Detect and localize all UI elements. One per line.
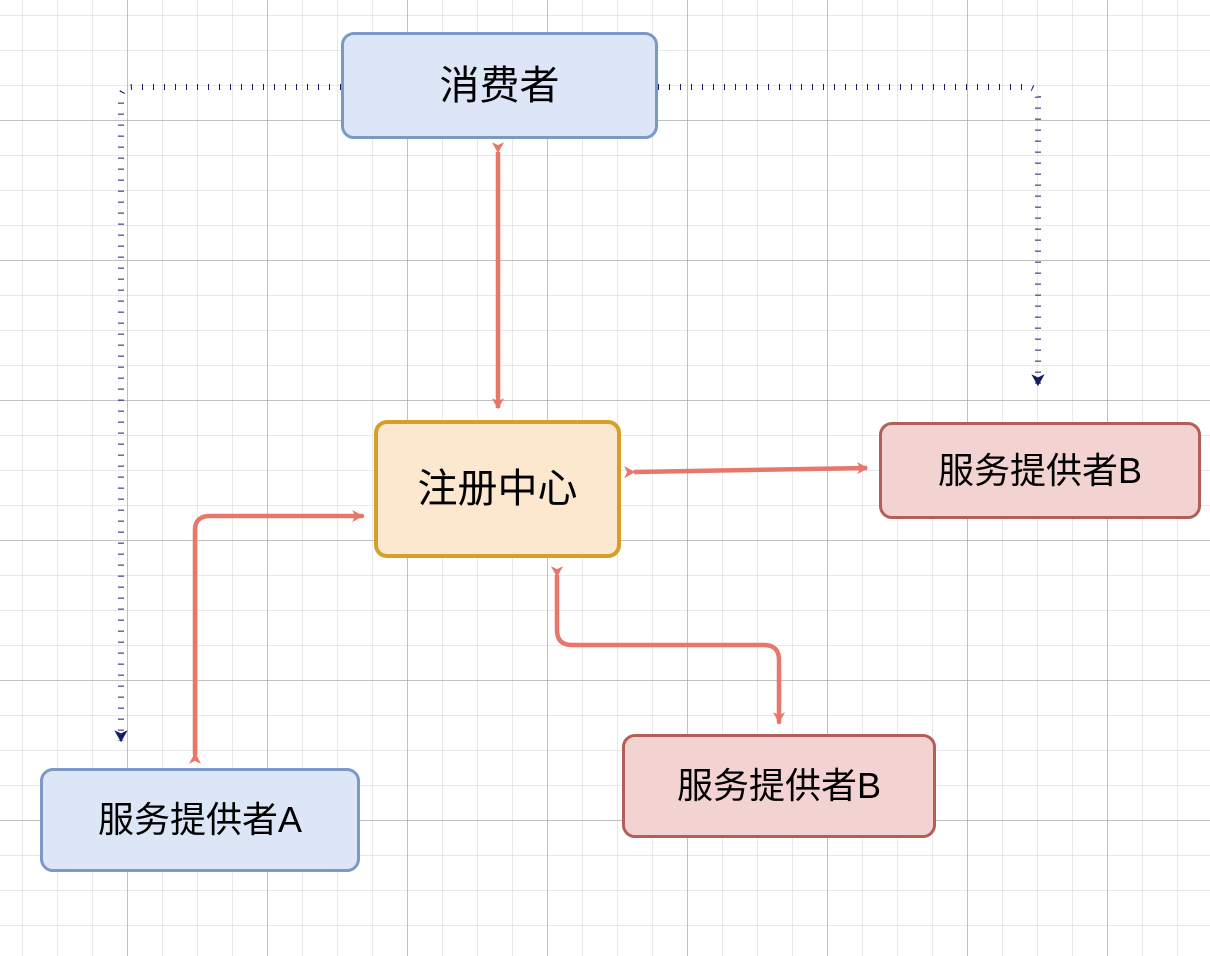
node-provider-b-bottom[interactable]: 服务提供者B	[622, 734, 936, 838]
edge-consumer-to-provider-b-right	[658, 87, 1038, 385]
diagram-canvas: 消费者 注册中心 服务提供者B 服务提供者B 服务提供者A	[0, 0, 1210, 956]
node-registry-label: 注册中心	[418, 467, 578, 511]
edge-registry-provider-b-bottom	[557, 576, 779, 722]
node-provider-b-bottom-label: 服务提供者B	[677, 766, 881, 806]
edge-registry-provider-b-right	[634, 468, 867, 472]
node-consumer-label: 消费者	[440, 64, 560, 108]
node-provider-b-right[interactable]: 服务提供者B	[879, 422, 1201, 519]
node-provider-a[interactable]: 服务提供者A	[40, 768, 360, 872]
edge-registry-provider-a	[195, 516, 362, 754]
node-registry[interactable]: 注册中心	[374, 420, 621, 558]
node-consumer[interactable]: 消费者	[341, 32, 658, 139]
node-provider-a-label: 服务提供者A	[98, 800, 302, 840]
edge-consumer-to-provider-a	[121, 87, 341, 741]
node-provider-b-right-label: 服务提供者B	[938, 451, 1142, 491]
